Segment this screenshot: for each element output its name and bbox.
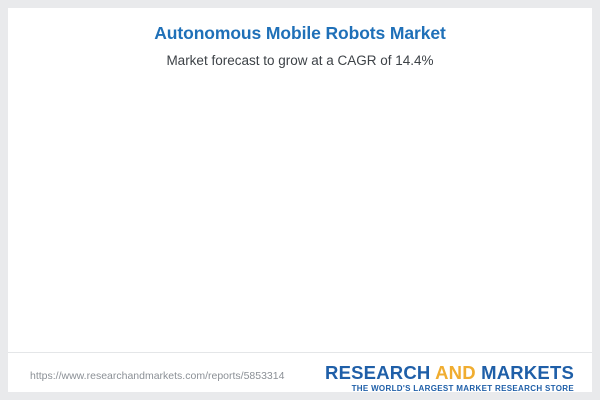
logo-word-markets: MARKETS [476, 362, 574, 383]
chart-plot-area: USD 2.75 Billion 2026 USD 7.07 Billion [8, 8, 592, 353]
research-and-markets-logo[interactable]: RESEARCH AND MARKETS THE WORLD'S LARGEST… [325, 363, 574, 392]
logo-wordmark: RESEARCH AND MARKETS [325, 363, 574, 382]
footer-divider [8, 352, 592, 353]
logo-word-research: RESEARCH [325, 362, 435, 383]
report-url[interactable]: https://www.researchandmarkets.com/repor… [30, 370, 284, 382]
logo-word-and: AND [435, 362, 476, 383]
infographic-card: Autonomous Mobile Robots Market Market f… [8, 8, 592, 392]
logo-tagline: THE WORLD'S LARGEST MARKET RESEARCH STOR… [325, 384, 574, 392]
